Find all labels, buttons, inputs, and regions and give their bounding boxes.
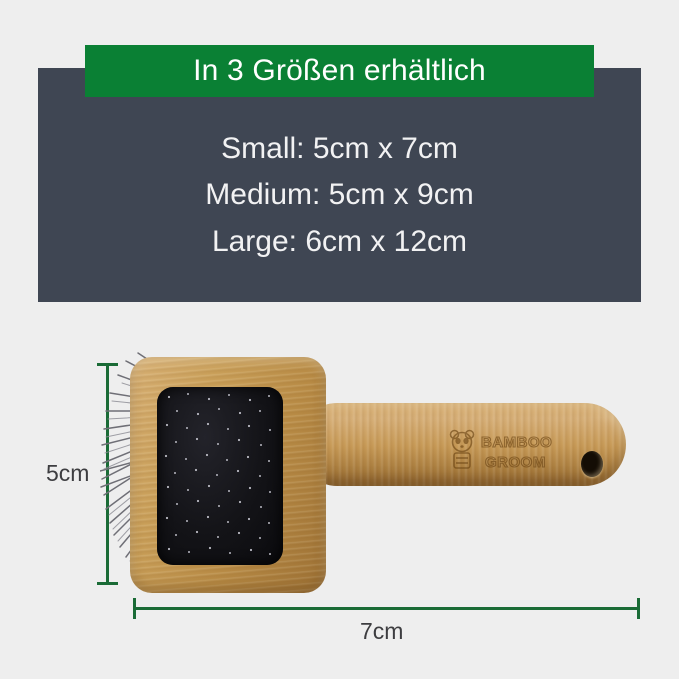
size-list: Small: 5cm x 7cm Medium: 5cm x 9cm Large… [38, 128, 641, 262]
hang-hole [581, 451, 603, 477]
width-measure-line [133, 607, 640, 610]
size-list-item-medium: Medium: 5cm x 9cm [205, 174, 473, 215]
product-infographic: In 3 Größen erhältlich Small: 5cm x 7cm … [0, 0, 679, 679]
logo-line-1: BAMBOO [481, 434, 552, 451]
headline-banner-text: In 3 Größen erhältlich [193, 56, 486, 86]
headline-banner: In 3 Größen erhältlich [85, 45, 594, 97]
logo-line-2: GROOM [485, 454, 546, 471]
width-measure-label: 7cm [360, 618, 403, 645]
size-list-item-small: Small: 5cm x 7cm [221, 128, 458, 169]
size-list-item-large: Large: 6cm x 12cm [212, 221, 467, 262]
brush-head [130, 357, 326, 593]
brush-pin-pad [157, 387, 283, 565]
panda-icon [453, 433, 472, 452]
pin-tips [157, 387, 283, 565]
height-measure-label: 5cm [46, 460, 89, 487]
bamboo-groom-logo: BAMBOO GROOM [445, 427, 573, 475]
brush-product-image: BAMBOO GROOM [100, 345, 640, 600]
